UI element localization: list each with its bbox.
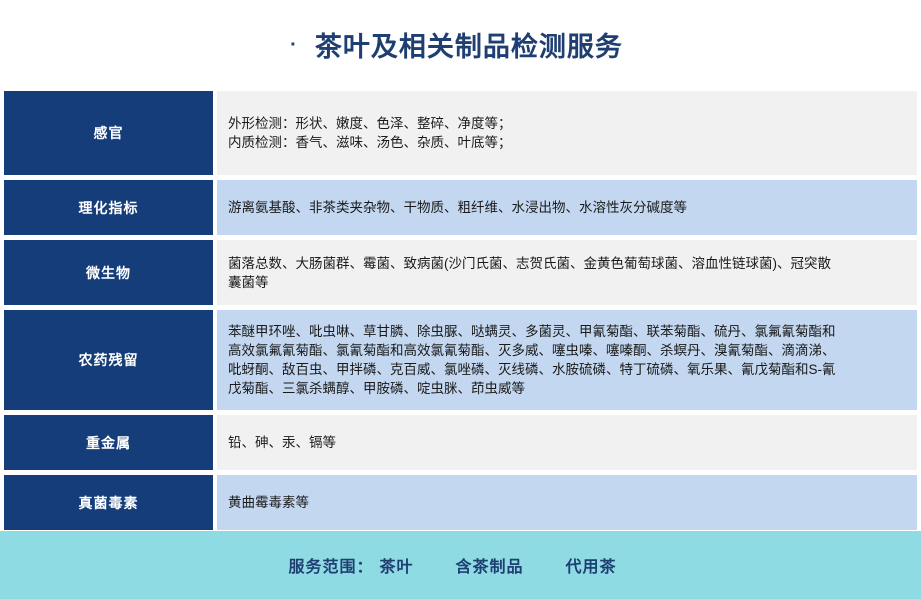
content-line: 戊菊酯、三氯杀螨醇、甲胺磷、啶虫脒、茚虫威等 [228, 379, 917, 398]
service-scope-inner: 服务范围： 茶叶 含茶制品 代用茶 [288, 553, 616, 577]
row-label-sensory: 感官 [4, 91, 213, 175]
page-title: · 茶叶及相关制品检测服务 [0, 0, 921, 88]
row-content-mycotoxin: 黄曲霉毒素等 [217, 475, 917, 530]
table-row: 农药残留 苯醚甲环唑、吡虫啉、草甘膦、除虫脲、哒螨灵、多菌灵、甲氰菊酯、联苯菊酯… [4, 310, 917, 410]
service-scope-label: 服务范围： [288, 553, 373, 577]
table-row: 理化指标 游离氨基酸、非茶类夹杂物、干物质、粗纤维、水浸出物、水溶性灰分碱度等 [4, 180, 917, 235]
service-scope-item-tea: 茶叶 [379, 553, 413, 577]
row-content-physicochemical: 游离氨基酸、非茶类夹杂物、干物质、粗纤维、水浸出物、水溶性灰分碱度等 [217, 180, 917, 235]
testing-items-table: 感官 外形检测：形状、嫩度、色泽、整碎、净度等； 内质检测：香气、滋味、汤色、杂… [4, 91, 917, 535]
table-row: 真菌毒素 黄曲霉毒素等 [4, 475, 917, 530]
content-line: 高效氯氟氰菊酯、氯氰菊酯和高效氯氰菊酯、灭多威、噻虫嗪、噻嗪酮、杀螟丹、溴氰菊酯… [228, 341, 917, 360]
content-line: 游离氨基酸、非茶类夹杂物、干物质、粗纤维、水浸出物、水溶性灰分碱度等 [228, 198, 917, 217]
table-row: 重金属 铅、砷、汞、镉等 [4, 415, 917, 470]
content-line: 吡蚜酮、敌百虫、甲拌磷、克百威、氯唑磷、灭线磷、水胺硫磷、特丁硫磷、氧乐果、氰戊… [228, 360, 917, 379]
content-line: 黄曲霉毒素等 [228, 493, 917, 512]
table-row: 感官 外形检测：形状、嫩度、色泽、整碎、净度等； 内质检测：香气、滋味、汤色、杂… [4, 91, 917, 175]
service-scope-item-substitute-tea: 代用茶 [566, 553, 617, 577]
row-content-heavy-metal: 铅、砷、汞、镉等 [217, 415, 917, 470]
bullet-icon: · [290, 35, 297, 55]
row-label-pesticide-residue: 农药残留 [4, 310, 213, 410]
row-label-heavy-metal: 重金属 [4, 415, 213, 470]
page-title-inner: · 茶叶及相关制品检测服务 [290, 25, 623, 64]
row-content-pesticide-residue: 苯醚甲环唑、吡虫啉、草甘膦、除虫脲、哒螨灵、多菌灵、甲氰菊酯、联苯菊酯、硫丹、氯… [217, 310, 917, 410]
row-label-physicochemical: 理化指标 [4, 180, 213, 235]
tea-testing-service-poster: · 茶叶及相关制品检测服务 感官 外形检测：形状、嫩度、色泽、整碎、净度等； 内… [0, 0, 921, 599]
row-label-mycotoxin: 真菌毒素 [4, 475, 213, 530]
content-line: 外形检测：形状、嫩度、色泽、整碎、净度等； [228, 114, 917, 133]
service-scope-item-tea-products: 含茶制品 [456, 553, 524, 577]
table-row: 微生物 菌落总数、大肠菌群、霉菌、致病菌(沙门氏菌、志贺氏菌、金黄色葡萄球菌、溶… [4, 240, 917, 305]
content-line: 苯醚甲环唑、吡虫啉、草甘膦、除虫脲、哒螨灵、多菌灵、甲氰菊酯、联苯菊酯、硫丹、氯… [228, 322, 917, 341]
row-label-microorganism: 微生物 [4, 240, 213, 305]
content-line: 囊菌等 [228, 273, 917, 292]
row-content-microorganism: 菌落总数、大肠菌群、霉菌、致病菌(沙门氏菌、志贺氏菌、金黄色葡萄球菌、溶血性链球… [217, 240, 917, 305]
content-line: 铅、砷、汞、镉等 [228, 433, 917, 452]
content-line: 内质检测：香气、滋味、汤色、杂质、叶底等； [228, 133, 917, 152]
row-content-sensory: 外形检测：形状、嫩度、色泽、整碎、净度等； 内质检测：香气、滋味、汤色、杂质、叶… [217, 91, 917, 175]
service-scope-banner: 服务范围： 茶叶 含茶制品 代用茶 [0, 531, 921, 599]
page-title-text: 茶叶及相关制品检测服务 [315, 25, 623, 64]
content-line: 菌落总数、大肠菌群、霉菌、致病菌(沙门氏菌、志贺氏菌、金黄色葡萄球菌、溶血性链球… [228, 254, 917, 273]
